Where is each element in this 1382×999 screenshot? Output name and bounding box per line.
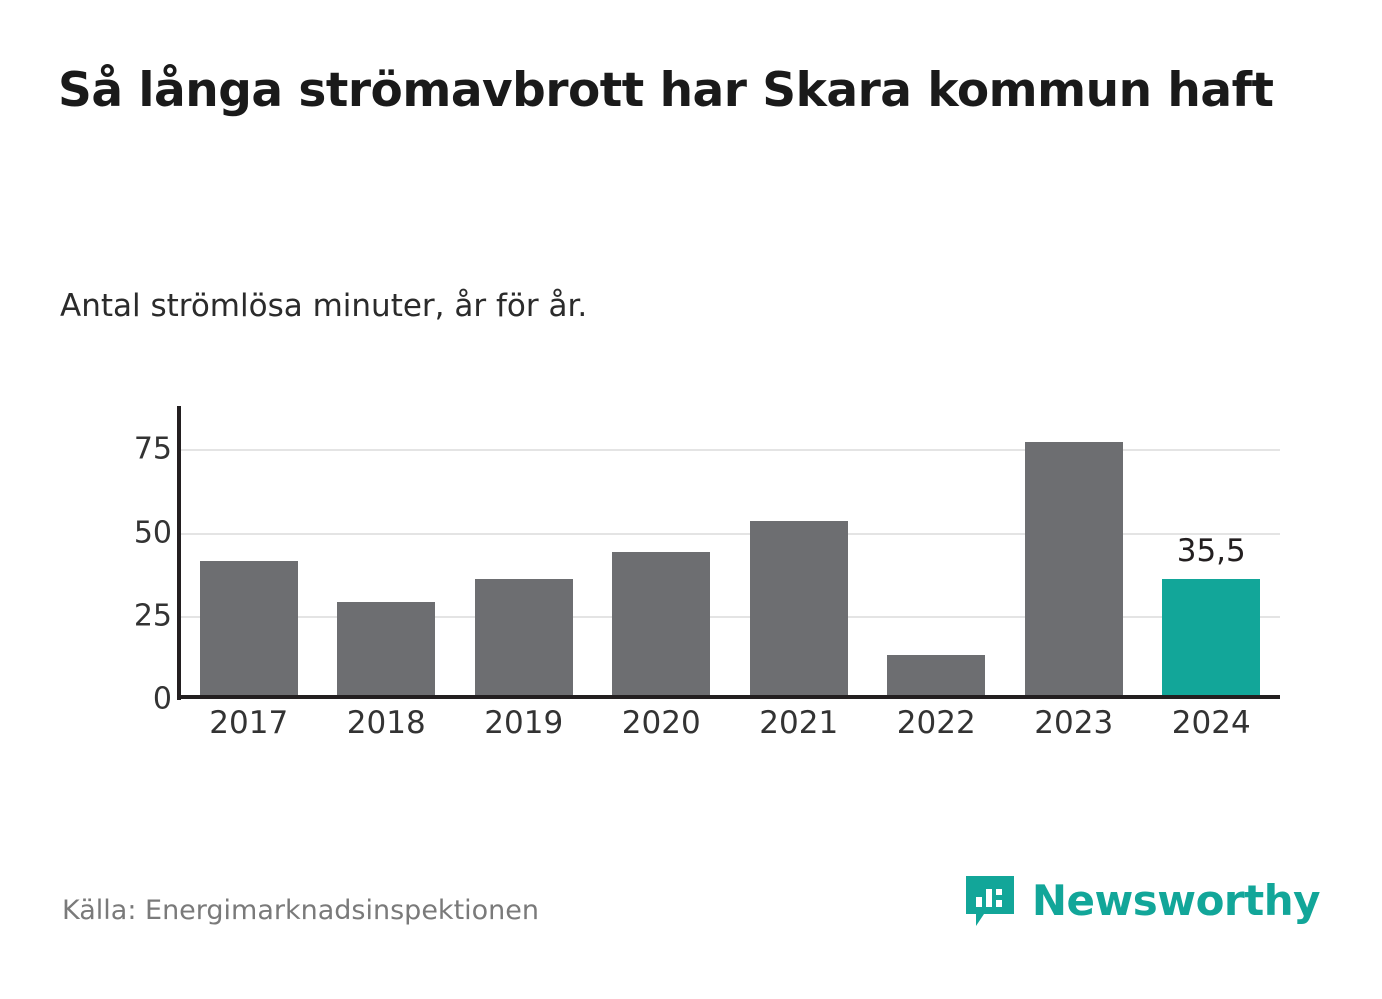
x-axis-labels: 20172018201920202021202220232024 xyxy=(180,705,1280,741)
bar[interactable] xyxy=(200,561,298,698)
bar-slot: 35,5 xyxy=(1143,426,1281,697)
x-axis-tick-label: 2024 xyxy=(1143,705,1281,741)
bar[interactable] xyxy=(750,521,848,697)
bar-slot xyxy=(730,426,868,697)
bar-slot xyxy=(455,426,593,697)
y-axis-tick-label: 50 xyxy=(62,515,172,550)
newsworthy-logo[interactable]: Newsworthy xyxy=(962,872,1320,928)
y-axis-tick-label: 0 xyxy=(62,682,172,717)
bar-slot xyxy=(318,426,456,697)
chart-page: Så långa strömavbrott har Skara kommun h… xyxy=(0,0,1382,999)
bar-series: 35,5 xyxy=(180,426,1280,697)
bar[interactable] xyxy=(475,579,573,697)
x-axis-tick-label: 2020 xyxy=(593,705,731,741)
bar-slot xyxy=(1005,426,1143,697)
x-axis-tick-label: 2019 xyxy=(455,705,593,741)
x-axis-line xyxy=(180,695,1280,699)
bar-chart-speech-bubble-icon xyxy=(962,872,1018,928)
bar[interactable] xyxy=(337,602,435,697)
bar-slot xyxy=(593,426,731,697)
bar[interactable] xyxy=(612,552,710,697)
page-subtitle: Antal strömlösa minuter, år för år. xyxy=(60,288,1260,324)
plot-area: 0255075 35,5 xyxy=(180,426,1280,699)
x-axis-tick-label: 2023 xyxy=(1005,705,1143,741)
y-axis-tick-label: 75 xyxy=(62,432,172,467)
bar[interactable]: 35,5 xyxy=(1162,579,1260,697)
x-axis-tick-label: 2022 xyxy=(868,705,1006,741)
bar-chart: 0255075 35,5 201720182019202020212022202… xyxy=(60,400,1300,760)
bar-value-label: 35,5 xyxy=(1177,533,1246,569)
x-axis-tick-label: 2018 xyxy=(318,705,456,741)
bar[interactable] xyxy=(1025,442,1123,697)
bar-slot xyxy=(180,426,318,697)
source-note: Källa: Energimarknadsinspektionen xyxy=(62,895,539,926)
logo-wordmark: Newsworthy xyxy=(1032,876,1320,925)
x-axis-tick-label: 2021 xyxy=(730,705,868,741)
page-title: Så långa strömavbrott har Skara kommun h… xyxy=(58,60,1318,123)
bar[interactable] xyxy=(887,655,985,697)
y-axis-tick-label: 25 xyxy=(62,598,172,633)
bar-slot xyxy=(868,426,1006,697)
x-axis-tick-label: 2017 xyxy=(180,705,318,741)
